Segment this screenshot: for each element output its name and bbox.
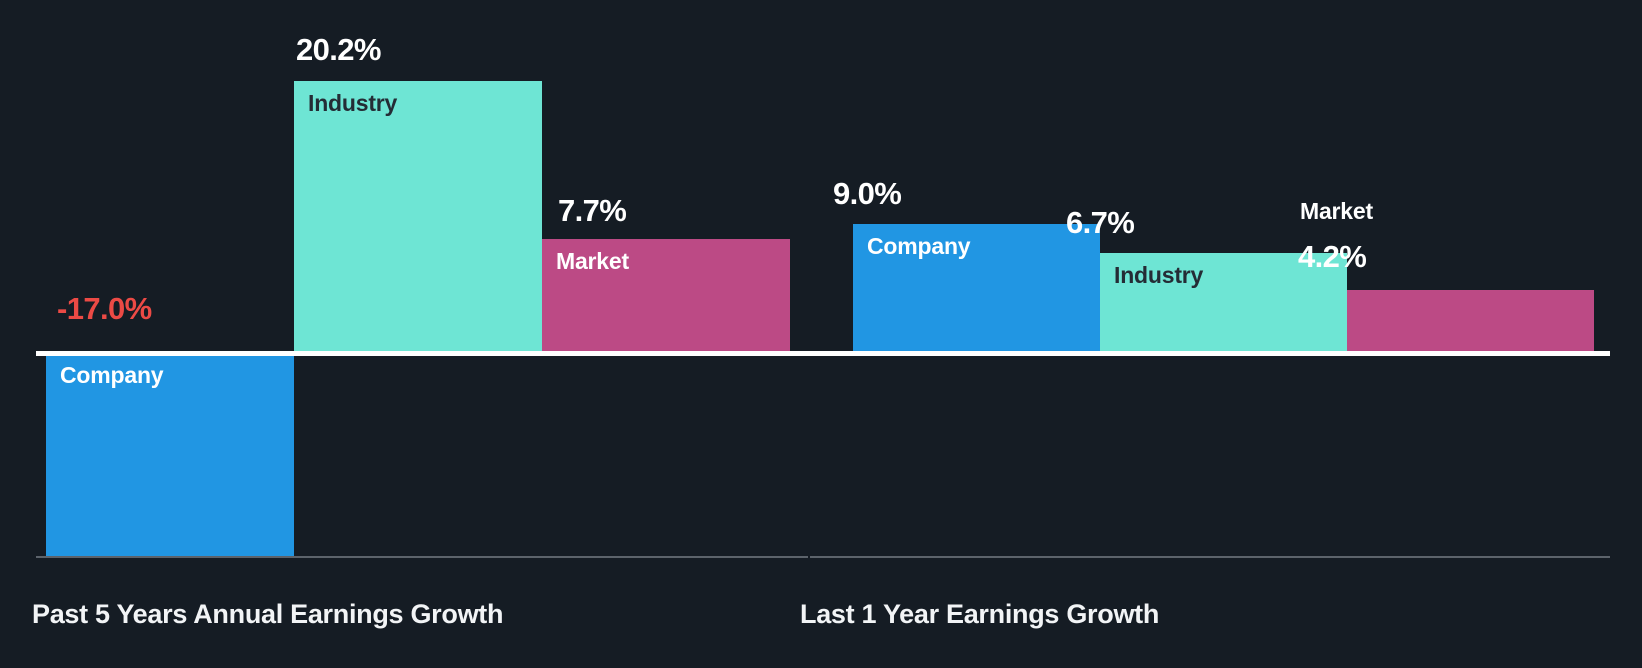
value-label-company: -17.0%: [57, 291, 152, 327]
panel-title-past-5-years: Past 5 Years Annual Earnings Growth: [32, 599, 503, 630]
bar-label-company: Company: [60, 362, 163, 389]
bottom-axis: [810, 556, 1610, 558]
value-label-industry: 20.2%: [296, 32, 381, 68]
bar-label-market: Market: [556, 248, 629, 275]
bar-label-industry: Industry: [308, 90, 397, 117]
panel-title-last-1-year: Last 1 Year Earnings Growth: [800, 599, 1159, 630]
zero-baseline: [800, 351, 1610, 356]
bar-market[interactable]: [1347, 290, 1594, 353]
value-label-industry: 6.7%: [1066, 205, 1134, 241]
plot-area-past-5-years: -17.0% Company 20.2% Industry 7.7% Marke…: [0, 0, 800, 556]
bar-company[interactable]: Company: [853, 224, 1100, 353]
bar-industry[interactable]: Industry: [294, 81, 542, 353]
plot-area-last-1-year: 9.0% Company 6.7% Industry Market 4.2%: [800, 0, 1642, 556]
value-label-company: 9.0%: [833, 176, 901, 212]
earnings-growth-chart: -17.0% Company 20.2% Industry 7.7% Marke…: [0, 0, 1642, 668]
bar-label-market: Market: [1300, 198, 1373, 225]
bar-label-industry: Industry: [1114, 262, 1203, 289]
zero-baseline: [36, 351, 808, 356]
panel-last-1-year: 9.0% Company 6.7% Industry Market 4.2% L…: [800, 0, 1642, 668]
bar-label-company: Company: [867, 233, 970, 260]
value-label-market: 4.2%: [1298, 239, 1366, 275]
value-label-market: 7.7%: [558, 193, 626, 229]
bottom-axis: [36, 556, 808, 558]
bar-company[interactable]: Company: [46, 353, 294, 556]
panel-past-5-years: -17.0% Company 20.2% Industry 7.7% Marke…: [0, 0, 800, 668]
bar-market[interactable]: Market: [542, 239, 790, 353]
